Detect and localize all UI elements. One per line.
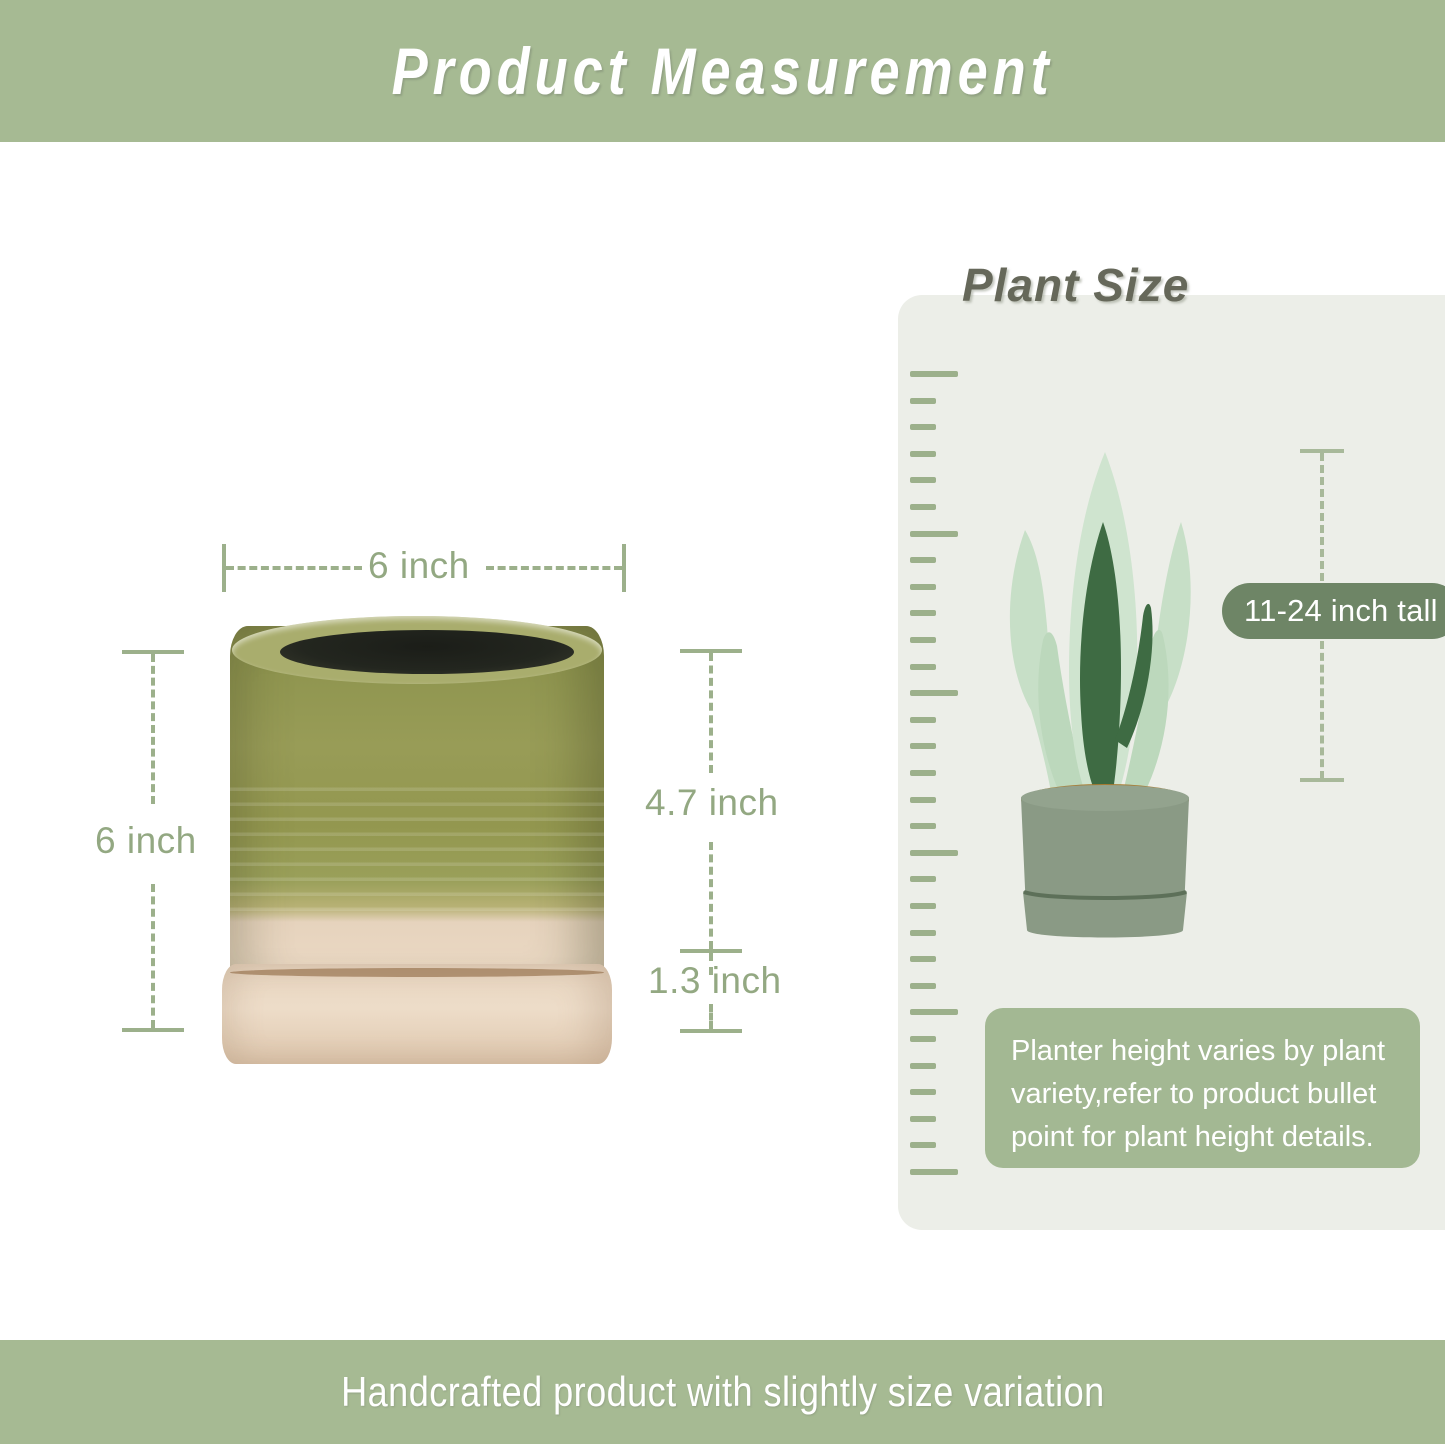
ruler-tick-minor [910,903,936,909]
plant-size-title: Plant Size [962,258,1189,312]
ceramic-planter-photo [222,616,614,1066]
ruler-tick-minor [910,876,936,882]
ruler-tick-minor [910,797,936,803]
planter-saucer-seam [230,968,604,977]
ruler-tick-minor [910,1142,936,1148]
measuring-ruler [910,371,970,1163]
plant-height-dash-bottom [1320,641,1324,779]
footer-note: Handcrafted product with slightly size v… [341,1368,1104,1416]
width-dimension-label: 6 inch [368,545,470,587]
ruler-tick-minor [910,557,936,563]
header-banner: Product Measurement [0,0,1445,142]
plant-pot-rim [1021,785,1189,811]
product-measurement-stage: 6 inch 6 inch 4.7 inch 1.3 inch [0,142,880,1340]
saucer-height-label: 1.3 inch [648,960,782,1002]
planter-interior [280,630,574,674]
body-height-dash-top [709,653,713,773]
ruler-tick-minor [910,1116,936,1122]
ruler-tick-minor [910,637,936,643]
ruler-tick-minor [910,930,936,936]
ruler-tick-major [910,850,958,856]
ruler-tick-minor [910,770,936,776]
planter-glaze-stripes [230,776,604,916]
width-dimension-dash-right [486,566,622,570]
ruler-tick-minor [910,956,936,962]
width-dimension-dash-left [226,566,362,570]
ruler-tick-minor [910,664,936,670]
ruler-tick-minor [910,823,936,829]
plant-pot-saucer [1023,886,1187,938]
planter-saucer [222,964,612,1064]
plant-height-note: Planter height varies by plant variety,r… [985,1008,1420,1168]
plant-height-dash-top [1320,453,1324,581]
ruler-tick-minor [910,451,936,457]
ruler-tick-major [910,690,958,696]
ruler-tick-major [910,531,958,537]
ruler-tick-minor [910,983,936,989]
ruler-tick-minor [910,424,936,430]
ruler-tick-minor [910,398,936,404]
ruler-tick-major [910,371,958,377]
plant-height-badge: 11-24 inch tall [1222,583,1445,639]
ruler-tick-minor [910,743,936,749]
saucer-height-dash-bottom [709,1004,713,1029]
height-dimension-dash-top [151,654,155,804]
height-dimension-dash-bottom [151,884,155,1028]
saucer-height-cap-bottom [680,1029,742,1033]
ruler-tick-minor [910,477,936,483]
ruler-tick-minor [910,1036,936,1042]
height-dimension-label: 6 inch [95,820,197,862]
ruler-tick-minor [910,1063,936,1069]
ruler-tick-minor [910,717,936,723]
ruler-tick-major [910,1169,958,1175]
body-height-dash-bottom [709,842,713,949]
width-dimension-cap-right [622,544,626,592]
page-title: Product Measurement [392,33,1054,109]
body-height-label: 4.7 inch [645,782,779,824]
footer-banner: Handcrafted product with slightly size v… [0,1340,1445,1444]
ruler-tick-minor [910,504,936,510]
ruler-tick-minor [910,1089,936,1095]
ruler-tick-minor [910,610,936,616]
planter-rim [232,616,602,684]
snake-plant-illustration [985,440,1225,940]
height-dimension-cap-bottom [122,1028,184,1032]
ruler-tick-minor [910,584,936,590]
ruler-tick-major [910,1009,958,1015]
